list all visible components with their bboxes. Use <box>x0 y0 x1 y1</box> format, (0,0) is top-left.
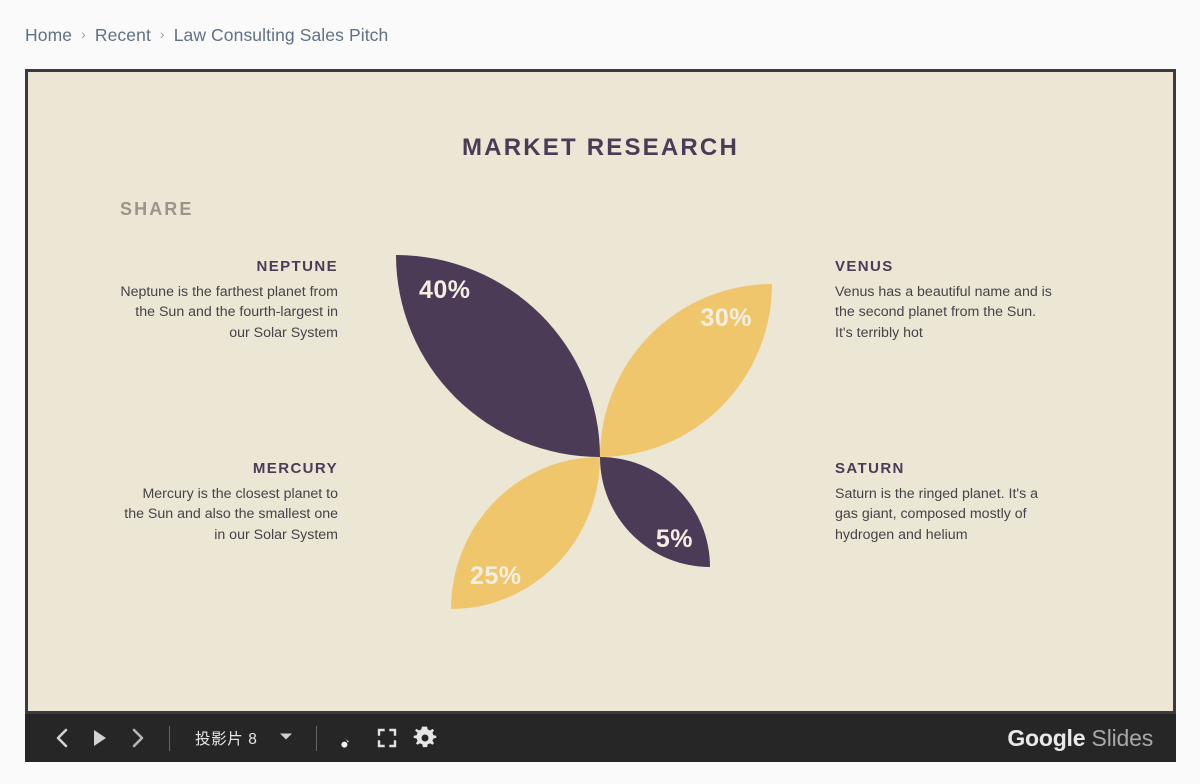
gear-icon <box>412 725 438 751</box>
breadcrumb-item-recent[interactable]: Recent <box>95 25 151 46</box>
info-heading-saturn: SATURN <box>835 460 1053 477</box>
slide-counter[interactable]: 投影片 8 <box>183 727 269 749</box>
info-block-neptune: NEPTUNE Neptune is the farthest planet f… <box>120 258 338 343</box>
chart-value-venus: 30% <box>700 304 752 333</box>
chart-petal-neptune: 40% <box>396 255 600 457</box>
breadcrumb-item-current[interactable]: Law Consulting Sales Pitch <box>174 25 389 46</box>
chart-petal-saturn: 5% <box>600 457 710 567</box>
share-section-label: SHARE <box>120 199 194 220</box>
toolbar-divider <box>169 726 170 751</box>
chart-value-neptune: 40% <box>419 276 471 305</box>
info-heading-neptune: NEPTUNE <box>120 258 338 275</box>
info-block-venus: VENUS Venus has a beautiful name and is … <box>835 258 1053 343</box>
fullscreen-button[interactable] <box>368 721 406 755</box>
next-slide-button[interactable] <box>118 721 156 755</box>
laser-pointer-icon <box>338 726 360 750</box>
chart-petal-mercury: 25% <box>451 457 600 609</box>
settings-button[interactable] <box>406 721 444 755</box>
info-body-mercury: Mercury is the closest planet to the Sun… <box>120 484 338 545</box>
slide-picker-dropdown[interactable] <box>269 723 303 753</box>
laser-pointer-button[interactable] <box>330 721 368 755</box>
petal-chart: 40% 30% 25% 5% <box>396 255 781 610</box>
info-body-neptune: Neptune is the farthest planet from the … <box>120 282 338 343</box>
previous-slide-button[interactable] <box>42 721 80 755</box>
brand-google-text: Google <box>1007 725 1085 751</box>
presentation-toolbar: 投影片 8 <box>25 714 1176 762</box>
chevron-right-icon <box>129 727 146 749</box>
slide-viewport[interactable]: MARKET RESEARCH SHARE NEPTUNE Neptune is… <box>25 69 1176 714</box>
chart-petal-venus: 30% <box>600 284 772 457</box>
play-icon <box>91 728 108 748</box>
chevron-down-icon <box>278 729 294 747</box>
info-heading-mercury: MERCURY <box>120 460 338 477</box>
toolbar-divider <box>316 726 317 751</box>
chart-value-mercury: 25% <box>470 562 522 591</box>
play-button[interactable] <box>80 721 118 755</box>
info-heading-venus: VENUS <box>835 258 1053 275</box>
info-block-saturn: SATURN Saturn is the ringed planet. It's… <box>835 460 1053 545</box>
slide-title: MARKET RESEARCH <box>28 134 1173 162</box>
breadcrumb-item-home[interactable]: Home <box>25 25 72 46</box>
info-body-saturn: Saturn is the ringed planet. It's a gas … <box>835 484 1053 545</box>
info-body-venus: Venus has a beautiful name and is the se… <box>835 282 1053 343</box>
fullscreen-icon <box>376 727 398 749</box>
brand-slides-text: Slides <box>1092 725 1153 751</box>
breadcrumb-separator-icon: › <box>81 27 86 41</box>
chart-value-saturn: 5% <box>656 525 693 554</box>
slide-canvas: MARKET RESEARCH SHARE NEPTUNE Neptune is… <box>28 72 1173 711</box>
chevron-left-icon <box>53 727 70 749</box>
breadcrumb-separator-icon: › <box>160 27 165 41</box>
breadcrumb: Home › Recent › Law Consulting Sales Pit… <box>25 18 388 52</box>
info-block-mercury: MERCURY Mercury is the closest planet to… <box>120 460 338 545</box>
google-slides-brand: Google Slides <box>1007 725 1159 752</box>
